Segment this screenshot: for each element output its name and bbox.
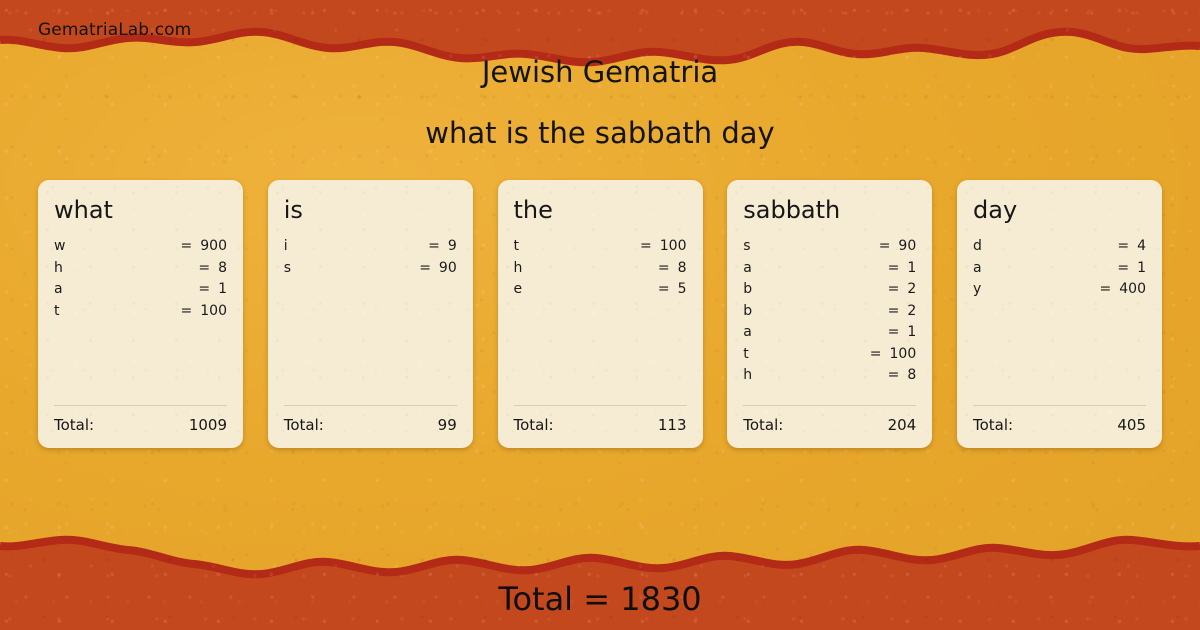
letter-value-rows: s=90a=1b=2b=2a=1t=100h=8 bbox=[743, 238, 916, 405]
row-value: 2 bbox=[907, 281, 916, 297]
row-value: 100 bbox=[200, 303, 227, 319]
row-letter: a bbox=[743, 324, 752, 340]
row-letter: i bbox=[284, 238, 288, 254]
card-word-title: the bbox=[514, 198, 687, 222]
card-total-label: Total: bbox=[743, 416, 783, 434]
letter-value-row: w=900 bbox=[54, 238, 227, 260]
letter-value-rows: w=900h=8a=1t=100 bbox=[54, 238, 227, 405]
card-word-title: is bbox=[284, 198, 457, 222]
card-divider bbox=[514, 405, 687, 406]
grand-total: Total = 1830 bbox=[0, 580, 1200, 618]
header-block: Jewish Gematria what is the sabbath day bbox=[0, 56, 1200, 151]
row-equals-value: =1 bbox=[888, 260, 917, 276]
row-value: 1 bbox=[907, 260, 916, 276]
row-letter: a bbox=[54, 281, 63, 297]
row-value: 1 bbox=[218, 281, 227, 297]
row-letter: t bbox=[743, 346, 749, 362]
card-total-row: Total:204 bbox=[743, 416, 916, 434]
card-total-value: 405 bbox=[1117, 416, 1146, 434]
row-equals-value: =1 bbox=[888, 324, 917, 340]
card-total-label: Total: bbox=[54, 416, 94, 434]
row-equals-sign: = bbox=[181, 238, 193, 254]
letter-value-rows: i=9s=90 bbox=[284, 238, 457, 405]
row-equals-value: =9 bbox=[428, 238, 457, 254]
letter-value-row: t=100 bbox=[54, 303, 227, 325]
letter-value-row: a=1 bbox=[743, 260, 916, 282]
letter-value-row: t=100 bbox=[743, 346, 916, 368]
row-equals-value: =90 bbox=[879, 238, 917, 254]
letter-value-row: d=4 bbox=[973, 238, 1146, 260]
card-word-title: what bbox=[54, 198, 227, 222]
card-total-label: Total: bbox=[514, 416, 554, 434]
letter-value-row: e=5 bbox=[514, 281, 687, 303]
row-value: 9 bbox=[448, 238, 457, 254]
row-equals-value: =2 bbox=[888, 303, 917, 319]
letter-value-row: a=1 bbox=[973, 260, 1146, 282]
row-equals-sign: = bbox=[428, 238, 440, 254]
row-value: 8 bbox=[678, 260, 687, 276]
letter-value-row: b=2 bbox=[743, 303, 916, 325]
row-equals-sign: = bbox=[198, 281, 210, 297]
row-letter: s bbox=[743, 238, 750, 254]
card-total-row: Total:405 bbox=[973, 416, 1146, 434]
row-equals-sign: = bbox=[888, 367, 900, 383]
card-total-row: Total:1009 bbox=[54, 416, 227, 434]
row-value: 2 bbox=[907, 303, 916, 319]
word-card: isi=9s=90Total:99 bbox=[268, 180, 473, 448]
row-equals-sign: = bbox=[1117, 238, 1129, 254]
row-equals-value: =400 bbox=[1100, 281, 1146, 297]
word-card: whatw=900h=8a=1t=100Total:1009 bbox=[38, 180, 243, 448]
row-letter: a bbox=[743, 260, 752, 276]
row-equals-sign: = bbox=[879, 238, 891, 254]
card-total-label: Total: bbox=[973, 416, 1013, 434]
row-letter: b bbox=[743, 281, 752, 297]
row-letter: h bbox=[514, 260, 523, 276]
row-letter: d bbox=[973, 238, 982, 254]
row-equals-sign: = bbox=[640, 238, 652, 254]
row-value: 4 bbox=[1137, 238, 1146, 254]
card-word-title: sabbath bbox=[743, 198, 916, 222]
row-equals-value: =100 bbox=[640, 238, 686, 254]
letter-value-row: h=8 bbox=[54, 260, 227, 282]
letter-value-row: s=90 bbox=[284, 260, 457, 282]
row-letter: t bbox=[54, 303, 60, 319]
card-divider bbox=[743, 405, 916, 406]
letter-value-row: t=100 bbox=[514, 238, 687, 260]
row-value: 1 bbox=[907, 324, 916, 340]
row-value: 5 bbox=[678, 281, 687, 297]
row-equals-sign: = bbox=[870, 346, 882, 362]
row-equals-sign: = bbox=[181, 303, 193, 319]
card-total-value: 1009 bbox=[189, 416, 227, 434]
row-value: 8 bbox=[218, 260, 227, 276]
row-letter: t bbox=[514, 238, 520, 254]
letter-value-rows: t=100h=8e=5 bbox=[514, 238, 687, 405]
card-divider bbox=[284, 405, 457, 406]
row-equals-sign: = bbox=[1117, 260, 1129, 276]
row-letter: w bbox=[54, 238, 65, 254]
word-card: thet=100h=8e=5Total:113 bbox=[498, 180, 703, 448]
row-letter: y bbox=[973, 281, 981, 297]
row-equals-sign: = bbox=[888, 281, 900, 297]
letter-value-row: h=8 bbox=[514, 260, 687, 282]
letter-value-row: s=90 bbox=[743, 238, 916, 260]
row-value: 900 bbox=[200, 238, 227, 254]
row-equals-value: =900 bbox=[181, 238, 227, 254]
row-equals-value: =4 bbox=[1117, 238, 1146, 254]
row-equals-value: =1 bbox=[198, 281, 227, 297]
query-phrase: what is the sabbath day bbox=[0, 117, 1200, 150]
letter-value-row: b=2 bbox=[743, 281, 916, 303]
card-total-value: 113 bbox=[658, 416, 687, 434]
row-equals-value: =100 bbox=[181, 303, 227, 319]
row-equals-sign: = bbox=[198, 260, 210, 276]
card-word-title: day bbox=[973, 198, 1146, 222]
row-equals-sign: = bbox=[1100, 281, 1112, 297]
row-value: 90 bbox=[898, 238, 916, 254]
row-equals-value: =8 bbox=[658, 260, 687, 276]
site-logo[interactable]: GematriaLab.com bbox=[38, 20, 191, 40]
row-equals-value: =8 bbox=[888, 367, 917, 383]
row-letter: e bbox=[514, 281, 523, 297]
row-equals-sign: = bbox=[888, 260, 900, 276]
row-letter: b bbox=[743, 303, 752, 319]
card-divider bbox=[973, 405, 1146, 406]
card-total-value: 204 bbox=[888, 416, 917, 434]
letter-value-row: a=1 bbox=[743, 324, 916, 346]
word-card: dayd=4a=1y=400Total:405 bbox=[957, 180, 1162, 448]
letter-value-rows: d=4a=1y=400 bbox=[973, 238, 1146, 405]
word-card: sabbaths=90a=1b=2b=2a=1t=100h=8Total:204 bbox=[727, 180, 932, 448]
row-letter: s bbox=[284, 260, 291, 276]
card-total-row: Total:99 bbox=[284, 416, 457, 434]
row-equals-sign: = bbox=[888, 303, 900, 319]
row-value: 100 bbox=[660, 238, 687, 254]
letter-value-row: y=400 bbox=[973, 281, 1146, 303]
row-equals-value: =1 bbox=[1117, 260, 1146, 276]
row-equals-value: =90 bbox=[419, 260, 457, 276]
row-equals-sign: = bbox=[888, 324, 900, 340]
card-total-row: Total:113 bbox=[514, 416, 687, 434]
row-equals-value: =100 bbox=[870, 346, 916, 362]
row-equals-sign: = bbox=[658, 281, 670, 297]
word-cards-container: whatw=900h=8a=1t=100Total:1009isi=9s=90T… bbox=[38, 180, 1162, 448]
row-equals-value: =8 bbox=[198, 260, 227, 276]
row-value: 90 bbox=[439, 260, 457, 276]
letter-value-row: h=8 bbox=[743, 367, 916, 389]
letter-value-row: i=9 bbox=[284, 238, 457, 260]
row-letter: h bbox=[54, 260, 63, 276]
row-value: 400 bbox=[1119, 281, 1146, 297]
row-equals-sign: = bbox=[658, 260, 670, 276]
row-letter: a bbox=[973, 260, 982, 276]
row-value: 8 bbox=[907, 367, 916, 383]
row-letter: h bbox=[743, 367, 752, 383]
card-divider bbox=[54, 405, 227, 406]
card-total-label: Total: bbox=[284, 416, 324, 434]
row-value: 1 bbox=[1137, 260, 1146, 276]
card-total-value: 99 bbox=[438, 416, 457, 434]
row-equals-sign: = bbox=[419, 260, 431, 276]
row-value: 100 bbox=[890, 346, 917, 362]
page-title: Jewish Gematria bbox=[0, 56, 1200, 89]
row-equals-value: =5 bbox=[658, 281, 687, 297]
letter-value-row: a=1 bbox=[54, 281, 227, 303]
row-equals-value: =2 bbox=[888, 281, 917, 297]
